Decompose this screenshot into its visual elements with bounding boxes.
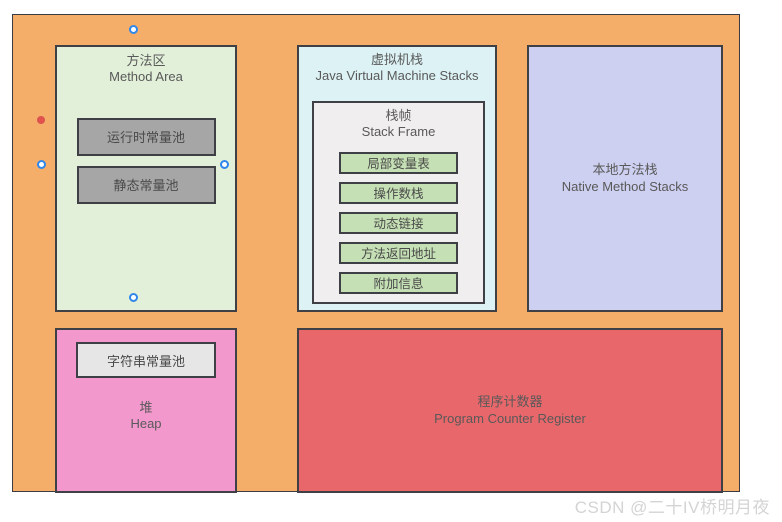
selection-handle-right[interactable] bbox=[220, 160, 229, 169]
node-heap[interactable]: 字符串常量池 堆 Heap bbox=[55, 328, 237, 493]
program-counter-register-title: 程序计数器 Program Counter Register bbox=[434, 394, 586, 427]
local-variable-table-label: 局部变量表 bbox=[367, 153, 430, 172]
string-constant-pool-label: 字符串常量池 bbox=[107, 351, 185, 370]
dynamic-linking-label: 动态链接 bbox=[373, 213, 423, 232]
node-stack-frame[interactable]: 栈帧 Stack Frame 局部变量表 操作数栈 动态链接 方法返回地址 附加… bbox=[312, 101, 485, 304]
operand-stack-label: 操作数栈 bbox=[373, 183, 423, 202]
selection-handle-bottom[interactable] bbox=[129, 293, 138, 302]
jvm-runtime-data-area-container[interactable]: 方法区 Method Area 运行时常量池 静态常量池 虚拟机栈 Java V… bbox=[12, 14, 740, 492]
native-method-stacks-title: 本地方法栈 Native Method Stacks bbox=[562, 162, 688, 195]
jvm-stacks-title: 虚拟机栈 Java Virtual Machine Stacks bbox=[315, 52, 478, 85]
additional-information-label: 附加信息 bbox=[373, 273, 423, 292]
watermark-text: CSDN @二十IV桥明月夜 bbox=[575, 493, 770, 518]
method-area-title: 方法区 Method Area bbox=[109, 53, 183, 86]
node-runtime-constant-pool[interactable]: 运行时常量池 bbox=[77, 118, 216, 156]
runtime-constant-pool-label: 运行时常量池 bbox=[107, 127, 185, 146]
method-return-address-label: 方法返回地址 bbox=[361, 243, 436, 262]
static-constant-pool-label: 静态常量池 bbox=[113, 175, 178, 194]
selection-handle-top[interactable] bbox=[129, 25, 138, 34]
node-method-return-address[interactable]: 方法返回地址 bbox=[339, 242, 458, 264]
node-dynamic-linking[interactable]: 动态链接 bbox=[339, 212, 458, 234]
node-static-constant-pool[interactable]: 静态常量池 bbox=[77, 166, 216, 204]
diagram-canvas: 方法区 Method Area 运行时常量池 静态常量池 虚拟机栈 Java V… bbox=[0, 0, 782, 522]
node-local-variable-table[interactable]: 局部变量表 bbox=[339, 152, 458, 174]
selection-handle-source[interactable] bbox=[37, 116, 45, 124]
node-operand-stack[interactable]: 操作数栈 bbox=[339, 182, 458, 204]
stack-frame-title: 栈帧 Stack Frame bbox=[362, 108, 436, 141]
node-additional-information[interactable]: 附加信息 bbox=[339, 272, 458, 294]
node-program-counter-register[interactable]: 程序计数器 Program Counter Register bbox=[297, 328, 723, 493]
node-method-area[interactable]: 方法区 Method Area 运行时常量池 静态常量池 bbox=[55, 45, 237, 312]
selection-handle-left[interactable] bbox=[37, 160, 46, 169]
node-string-constant-pool[interactable]: 字符串常量池 bbox=[76, 342, 216, 378]
node-java-virtual-machine-stacks[interactable]: 虚拟机栈 Java Virtual Machine Stacks 栈帧 Stac… bbox=[297, 45, 497, 312]
heap-title: 堆 Heap bbox=[130, 400, 161, 433]
node-native-method-stacks[interactable]: 本地方法栈 Native Method Stacks bbox=[527, 45, 723, 312]
